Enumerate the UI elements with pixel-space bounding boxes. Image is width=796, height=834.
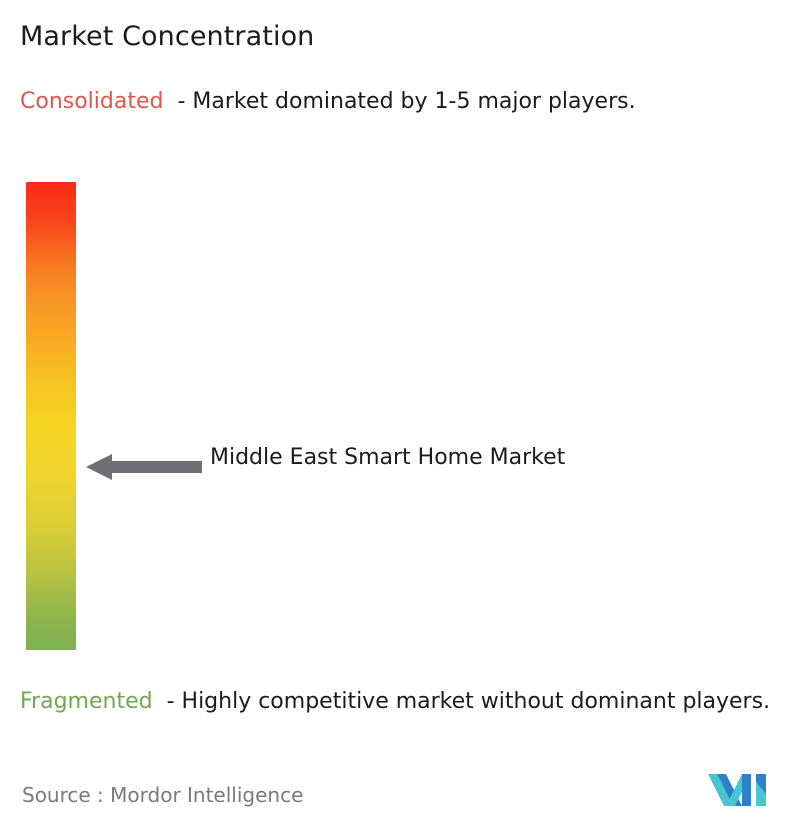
legend-fragmented-description: - Highly competitive market without domi… [167, 689, 770, 714]
legend-fragmented: Fragmented - Highly competitive market w… [20, 686, 790, 717]
legend-consolidated: Consolidated - Market dominated by 1-5 m… [20, 86, 776, 117]
legend-consolidated-description: - Market dominated by 1-5 major players. [177, 89, 635, 114]
page-title: Market Concentration [20, 20, 314, 54]
marker-label: Middle East Smart Home Market [210, 440, 630, 475]
left-arrow-icon [86, 452, 202, 482]
legend-fragmented-label: Fragmented [20, 689, 153, 714]
mordor-intelligence-logo-icon [708, 770, 770, 810]
legend-consolidated-label: Consolidated [20, 89, 163, 114]
concentration-gradient-bar [26, 182, 76, 650]
source-attribution: Source : Mordor Intelligence [22, 782, 303, 808]
market-concentration-chart: Market Concentration Consolidated - Mark… [0, 0, 796, 834]
